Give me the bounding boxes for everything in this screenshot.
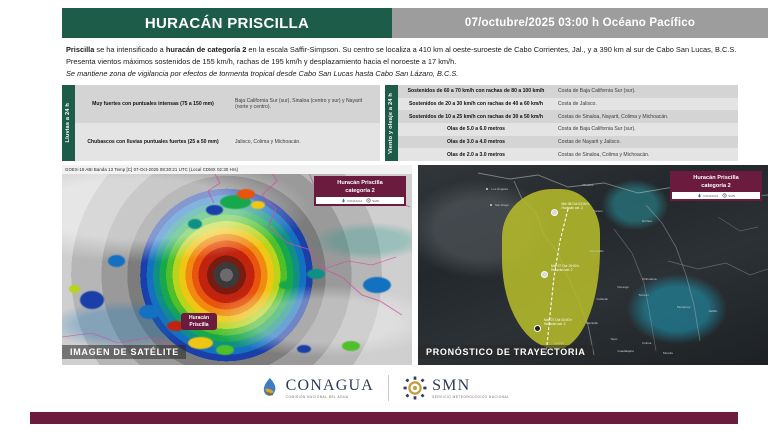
header-title-block: HURACÁN PRISCILLA (62, 8, 392, 38)
table-row: Olas de 5.0 a 6.0 metros Costa de Baja C… (398, 123, 738, 136)
map-place-label: Monterrey (677, 305, 691, 309)
table-row: Sostenidos de 10 a 25 km/h con rachas de… (398, 110, 738, 123)
rain-intensity: Muy fuertes con puntuales intensas (75 a… (75, 100, 231, 108)
storm-marker-label: Huracán Priscilla (181, 313, 217, 330)
table-row: Chubascos con lluvias puntuales fuertes … (75, 123, 380, 161)
track-point-label: Mié 08 Oct 03:00 h Huracán cat. 2 (562, 203, 590, 211)
summary-watch-note: Se mantiene zona de vigilancia por efect… (66, 69, 458, 78)
track-label-category: Huracán cat. 2 (551, 269, 579, 273)
forecast-track-panel[interactable]: Mié 08 Oct 03:00 h Huracán cat. 2 Mar 07… (418, 165, 768, 365)
wave-regions: Costa de Baja California Sur (sur). (554, 125, 738, 133)
storm-marker-line2: Priscilla (189, 322, 209, 329)
map-place-label: Los Ángeles (492, 187, 509, 191)
storm-marker-line1: Huracán (189, 315, 209, 322)
map-place-label: Morelia (663, 351, 673, 355)
goes-caption: GOES-19 ABI Banda 13 Temp [C] 07-Oct-202… (62, 165, 412, 174)
wave-value: Olas de 5.0 a 6.0 metros (398, 125, 554, 133)
badge-conagua-logo: CONAGUA (341, 198, 362, 203)
header-bar: HURACÁN PRISCILLA 07/octubre/2025 03:00 … (62, 8, 768, 38)
bulletin-page: HURACÁN PRISCILLA 07/octubre/2025 03:00 … (0, 0, 768, 432)
table-row: Olas de 2.0 a 3.0 metros Costas de Sinal… (398, 148, 738, 161)
map-place-label: Mazatlán (586, 321, 598, 325)
map-place-label: Hermosillo (590, 249, 604, 253)
track-point-label: Mar 07 Oct 15:00 h Huracán cat. 2 (551, 265, 579, 273)
wind-axis-text: Viento y oleaje a 24 h (388, 93, 395, 154)
track-point-label: Mar 07 Oct 03:00 h Huracán cat. 2 (544, 319, 572, 327)
badge-smn-text: SMN (372, 199, 379, 203)
table-row: Sostenidos de 20 a 30 km/h con rachas de… (398, 98, 738, 111)
map-place-label: Colima (642, 341, 651, 345)
badge-smn-logo: SMN (366, 198, 379, 203)
map-place-label: Torreón (639, 293, 649, 297)
track-point (534, 325, 541, 332)
badge-storm-category: categoría 2 (672, 183, 760, 191)
wind-regions: Costas de Sinaloa, Nayarit, Colima y Mic… (554, 113, 738, 121)
wind-value: Sostenidos de 20 a 30 km/h con rachas de… (398, 100, 554, 108)
header-datetime: 07/octubre/2025 03:00 h Océano Pacífico (465, 17, 695, 29)
conagua-wordmark: CONAGUA COMISIÓN NACIONAL DEL AGUA (286, 377, 374, 399)
smn-logo: SMN SERVICIO METEOROLÓGICO NACIONAL (403, 376, 509, 400)
map-place-label: Guadalajara (618, 349, 634, 353)
rain-regions: Baja California Sur (sur), Sinaloa (cent… (231, 97, 380, 112)
badge-smn-text: SMN (728, 194, 735, 198)
satellite-storm-badge: Huracán Priscilla categoría 2 CONAGUA SM… (314, 176, 406, 206)
map-place-label: El Paso (642, 219, 652, 223)
hazard-tables: Lluvias a 24 h Muy fuertes con puntuales… (62, 85, 768, 161)
satellite-panel[interactable]: GOES-19 ABI Banda 13 Temp [C] 07-Oct-202… (62, 165, 412, 365)
badge-conagua-text: CONAGUA (347, 199, 362, 203)
conagua-emblem-icon (259, 376, 281, 400)
map-place-dot (490, 204, 492, 206)
spiral-icon (366, 198, 371, 203)
goes-caption-text: GOES-19 ABI Banda 13 Temp [C] 07-Oct-202… (65, 167, 238, 172)
wind-value: Sostenidos de 10 a 25 km/h con rachas de… (398, 113, 554, 121)
bottom-accent-bar (30, 412, 738, 424)
badge-logos: CONAGUA SMN (672, 192, 760, 199)
footer-logos: CONAGUA COMISIÓN NACIONAL DEL AGUA (0, 368, 768, 408)
track-label-category: Huracán cat. 2 (562, 207, 590, 211)
forecast-storm-badge: Huracán Priscilla categoría 2 CONAGUA SM… (670, 171, 762, 201)
wave-regions: Costas de Sinaloa, Colima y Michoacán. (554, 151, 738, 159)
imagery-panels: GOES-19 ABI Banda 13 Temp [C] 07-Oct-202… (62, 165, 768, 365)
footer-divider (388, 375, 389, 401)
map-place-label: Saltillo (709, 309, 718, 313)
map-place-label: Phoenix (583, 183, 594, 187)
summary-category: huracán de categoría 2 (166, 45, 247, 54)
track-point (551, 209, 558, 216)
wind-wave-table: Viento y oleaje a 24 h Sostenidos de 60 … (385, 85, 738, 161)
summary-storm-name: Priscilla (66, 45, 94, 54)
rain-axis-text: Lluvias a 24 h (65, 103, 72, 143)
conagua-logo: CONAGUA COMISIÓN NACIONAL DEL AGUA (259, 376, 374, 400)
badge-conagua-text: CONAGUA (703, 194, 718, 198)
track-label-category: Huracán cat. 2 (544, 323, 572, 327)
wave-value: Olas de 2.0 a 3.0 metros (398, 151, 554, 159)
conagua-subtitle: COMISIÓN NACIONAL DEL AGUA (286, 395, 374, 399)
table-row: Sostenidos de 60 a 70 km/h con rachas de… (398, 85, 738, 98)
badge-logos: CONAGUA SMN (316, 197, 404, 204)
table-row: Olas de 3.0 a 4.0 metros Costas de Nayar… (398, 136, 738, 149)
satellite-panel-label: IMAGEN DE SATÉLITE (62, 345, 186, 359)
rain-table: Lluvias a 24 h Muy fuertes con puntuales… (62, 85, 380, 161)
map-place-label: Culiacán (597, 297, 609, 301)
track-point (541, 271, 548, 278)
badge-storm-category: categoría 2 (316, 188, 404, 196)
map-place-label: Tucson (593, 209, 603, 213)
rain-intensity: Chubascos con lluvias puntuales fuertes … (75, 138, 231, 146)
water-drop-icon (697, 193, 702, 198)
map-place-label: Chihuahua (642, 277, 657, 281)
conagua-name: CONAGUA (286, 377, 374, 395)
smn-emblem-icon (403, 376, 427, 400)
header-datetime-block: 07/octubre/2025 03:00 h Océano Pacífico (392, 8, 768, 38)
map-place-label: Tepic (611, 337, 618, 341)
map-place-label: San Diego (495, 203, 509, 207)
smn-wordmark: SMN SERVICIO METEOROLÓGICO NACIONAL (432, 377, 509, 399)
smn-name: SMN (432, 377, 509, 395)
smn-subtitle: SERVICIO METEOROLÓGICO NACIONAL (432, 395, 509, 399)
summary-paragraph: Priscilla se ha intensificado a huracán … (66, 44, 766, 80)
badge-conagua-logo: CONAGUA (697, 193, 718, 198)
wind-value: Sostenidos de 60 a 70 km/h con rachas de… (398, 87, 554, 95)
wave-value: Olas de 3.0 a 4.0 metros (398, 138, 554, 146)
badge-storm-name: Huracán Priscilla (672, 175, 760, 183)
page-title: HURACÁN PRISCILLA (145, 15, 309, 32)
rain-regions: Jalisco, Colima y Michoacán. (231, 138, 380, 146)
wave-regions: Costas de Nayarit y Jalisco. (554, 138, 738, 146)
rain-table-axis-label: Lluvias a 24 h (62, 85, 75, 161)
wind-regions: Costa de Jalisco. (554, 100, 738, 108)
wind-table-axis-label: Viento y oleaje a 24 h (385, 85, 398, 161)
summary-text-a: se ha intensificado a (94, 45, 166, 54)
wind-regions: Costa de Baja California Sur (sur). (554, 87, 738, 95)
badge-storm-name: Huracán Priscilla (316, 180, 404, 188)
map-place-label: Durango (618, 285, 630, 289)
badge-smn-logo: SMN (722, 193, 735, 198)
forecast-panel-label: PRONÓSTICO DE TRAYECTORIA (418, 345, 593, 359)
water-drop-icon (341, 198, 346, 203)
spiral-icon (722, 193, 727, 198)
table-row: Muy fuertes con puntuales intensas (75 a… (75, 85, 380, 123)
